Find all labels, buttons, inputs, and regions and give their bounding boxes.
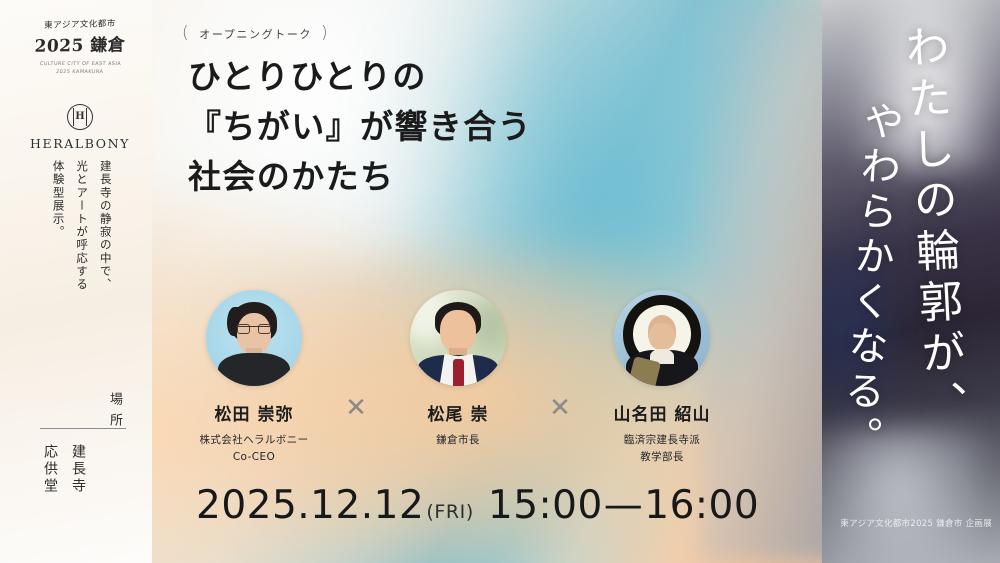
event-end-time: 16:00 [644,483,759,528]
cross-separator-icon: ✕ [330,395,382,421]
venue-name-primary: 建長寺 [68,444,88,495]
avatar [410,290,506,386]
speaker-role: 株式会社ヘラルボニー Co-CEO [200,432,309,467]
speaker-name: 松田 崇弥 [215,400,294,425]
heralbony-logo: H HERALBONY [28,104,132,151]
badge-label: オープニングトーク [199,26,312,42]
city-logo: 東アジア文化都市 2025 鎌倉 CULTURE CITY OF EAST AS… [28,18,132,76]
vertical-catchcopy-line-2: やわらかくなる。 [828,98,911,461]
left-info-panel: 東アジア文化都市 2025 鎌倉 CULTURE CITY OF EAST AS… [0,0,152,563]
speaker-name: 山名田 紹山 [614,400,711,425]
venue-divider [40,428,126,429]
speakers-row: 松田 崇弥 株式会社ヘラルボニー Co-CEO ✕ 松尾 崇 鎌倉市長 ✕ [178,290,740,467]
speaker-card: 松尾 崇 鎌倉市長 [382,290,534,449]
event-weekday: (FRI) [426,501,474,523]
exhibition-caption: 東アジア文化都市2025 鎌倉市 企画展 [840,517,992,529]
headline-line-2: 『ちがい』が響き合う [188,102,532,152]
event-start-time: 15:00 [488,483,603,528]
venue-names: 建長寺 応供堂 [40,444,88,495]
speaker-card: 松田 崇弥 株式会社ヘラルボニー Co-CEO [178,290,330,467]
badge-paren-right: ) [321,25,329,42]
speaker-role: 臨済宗建長寺派 教学部長 [624,432,700,467]
event-date: 2025.12.12 [196,483,424,528]
venue-name-secondary: 応供堂 [40,444,60,495]
exhibition-tagline: 建長寺の静寂の中で、 光とアートが呼応する 体験型展示。 [46,160,117,310]
city-logo-line-2: 2025 鎌倉 [28,30,133,57]
city-logo-english: CULTURE CITY OF EAST ASIA 2025 KAMAKURA [27,61,133,76]
heralbony-wordmark: HERALBONY [28,136,132,151]
event-time-dash: — [604,483,644,528]
venue-block: 場所 建長寺 応供堂 [34,392,130,434]
avatar [206,290,302,386]
heralbony-emblem-icon: H [67,104,93,130]
right-visual-panel: わたしの輪郭が、 やわらかくなる。 [822,0,1000,563]
avatar [614,290,710,386]
speaker-role: 鎌倉市長 [436,432,480,449]
poster-canvas: 東アジア文化都市 2025 鎌倉 CULTURE CITY OF EAST AS… [0,0,1000,563]
headline-line-3: 社会のかたち [188,152,532,202]
speaker-card: 山名田 紹山 臨済宗建長寺派 教学部長 [586,290,738,467]
badge-paren-left: ( [182,25,190,42]
headline: ひとりひとりの 『ちがい』が響き合う 社会のかたち [188,52,532,202]
cross-separator-icon: ✕ [534,395,586,421]
city-logo-line-1: 東アジア文化都市 [28,17,132,32]
speaker-name: 松尾 崇 [428,400,489,425]
opening-talk-badge: ( オープニングトーク ) [182,25,329,42]
event-datetime: 2025.12.12 (FRI) 15:00 — 16:00 [196,483,759,528]
headline-line-1: ひとりひとりの [188,52,532,102]
heralbony-mark-letter: H [75,112,84,122]
